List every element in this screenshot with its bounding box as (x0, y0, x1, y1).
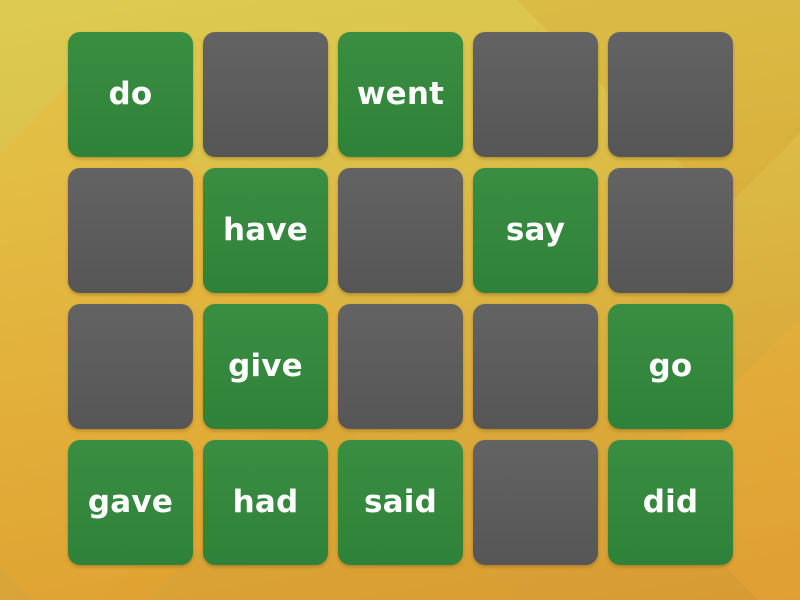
word-tile-revealed[interactable]: did (608, 440, 733, 565)
word-tile-revealed[interactable]: have (203, 168, 328, 293)
word-tile-revealed[interactable]: do (68, 32, 193, 157)
word-tile-revealed[interactable]: say (473, 168, 598, 293)
word-tile-hidden[interactable] (338, 304, 463, 429)
matching-pairs-board: dowenthavesaygivegogavehadsaiddid (0, 0, 800, 600)
word-tile-hidden[interactable] (473, 440, 598, 565)
tile-label: went (357, 79, 444, 110)
word-tile-hidden[interactable] (473, 304, 598, 429)
word-tile-revealed[interactable]: said (338, 440, 463, 565)
word-tile-hidden[interactable] (68, 168, 193, 293)
word-tile-hidden[interactable] (608, 168, 733, 293)
word-tile-hidden[interactable] (473, 32, 598, 157)
tile-label: had (233, 487, 299, 518)
tile-label: have (223, 215, 308, 246)
word-tile-hidden[interactable] (338, 168, 463, 293)
tile-label: give (228, 351, 303, 382)
word-tile-revealed[interactable]: went (338, 32, 463, 157)
tile-label: did (643, 487, 699, 518)
word-tile-hidden[interactable] (608, 32, 733, 157)
word-tile-revealed[interactable]: give (203, 304, 328, 429)
tile-label: say (506, 215, 565, 246)
word-tile-hidden[interactable] (203, 32, 328, 157)
tile-label: go (649, 351, 693, 382)
tile-label: do (109, 79, 153, 110)
tile-label: gave (88, 487, 173, 518)
word-tile-revealed[interactable]: go (608, 304, 733, 429)
word-tile-revealed[interactable]: had (203, 440, 328, 565)
tile-label: said (364, 487, 437, 518)
word-tile-revealed[interactable]: gave (68, 440, 193, 565)
word-tile-hidden[interactable] (68, 304, 193, 429)
tile-grid: dowenthavesaygivegogavehadsaiddid (68, 32, 733, 565)
